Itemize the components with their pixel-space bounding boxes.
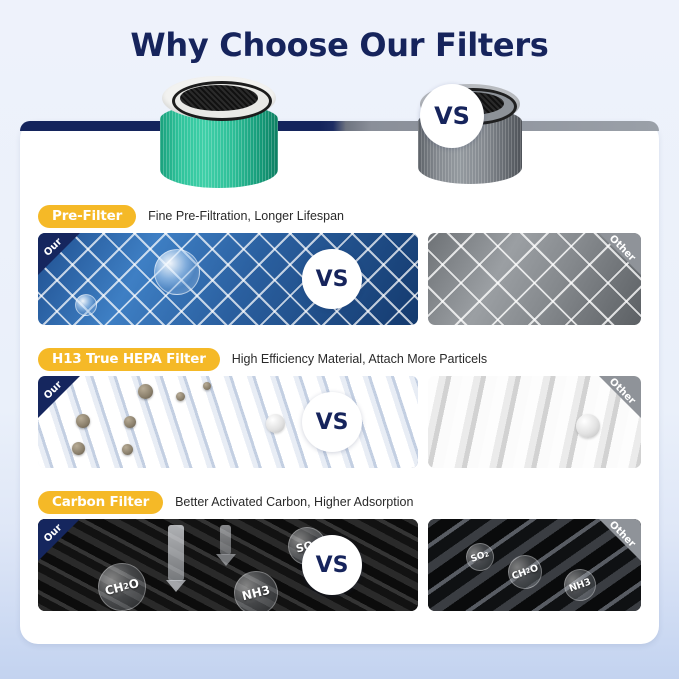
particle-dust [203, 382, 211, 390]
other-panel-hepa: Other [428, 376, 641, 468]
other-panel-carbon: SO2 CH2O NH3 Other [428, 519, 641, 611]
vs-badge-carbon: VS [302, 535, 362, 595]
particle-dust [124, 416, 136, 428]
badge-pre-filter: Pre-Filter [38, 205, 136, 228]
particle-dust [266, 414, 285, 433]
adsorption-arrow [168, 525, 184, 581]
other-panel-pre-filter: Other [428, 233, 641, 325]
row-header: Pre-Filter Fine Pre-Filtration, Longer L… [38, 205, 344, 227]
adsorption-arrow [220, 525, 231, 555]
vs-badge-hepa: VS [302, 392, 362, 452]
page-title: Why Choose Our Filters [0, 26, 679, 64]
particle-dust [138, 384, 153, 399]
vs-badge-hero: VS [420, 84, 484, 148]
filter-mesh-icon [180, 85, 258, 111]
particle-dust [576, 414, 600, 438]
row-panels: Our Other VS [38, 376, 641, 468]
hero-filters: VS [20, 76, 659, 188]
row-description: High Efficiency Material, Attach More Pa… [232, 352, 487, 366]
particle-bubble [154, 249, 200, 295]
row-header: H13 True HEPA Filter High Efficiency Mat… [38, 348, 487, 370]
row-description: Better Activated Carbon, Higher Adsorpti… [175, 495, 413, 509]
particle-dust [72, 442, 85, 455]
badge-hepa-filter: H13 True HEPA Filter [38, 348, 220, 371]
molecule-ch2o-tail: O [127, 576, 140, 592]
row-panels: CH2O NH3 SO2 Our SO2 CH2O NH3 [38, 519, 641, 611]
row-header: Carbon Filter Better Activated Carbon, H… [38, 491, 413, 513]
particle-dust [176, 392, 185, 401]
row-panels: Our Other VS [38, 233, 641, 325]
comparison-card: VS Pre-Filter Fine Pre-Filtration, Longe… [20, 121, 659, 644]
particle-dust [122, 444, 133, 455]
row-description: Fine Pre-Filtration, Longer Lifespan [148, 209, 344, 223]
badge-carbon-filter: Carbon Filter [38, 491, 163, 514]
particle-bubble [75, 294, 97, 316]
vs-badge-pre-filter: VS [302, 249, 362, 309]
our-filter-image [160, 76, 278, 188]
